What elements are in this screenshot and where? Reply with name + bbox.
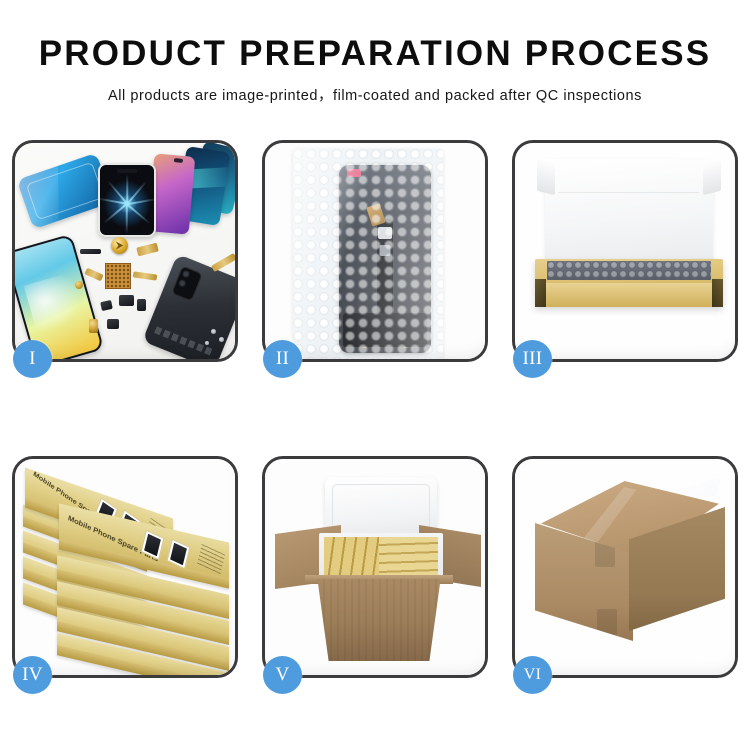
part-flex-cable bbox=[136, 243, 159, 257]
page-header: PRODUCT PREPARATION PROCESS All products… bbox=[0, 0, 750, 105]
lid-flap-left bbox=[537, 157, 555, 195]
page-subtitle: All products are image-printed，film-coat… bbox=[0, 84, 750, 105]
phone-back-housing bbox=[142, 254, 235, 359]
screen-ray bbox=[126, 204, 128, 234]
part-module bbox=[137, 299, 146, 311]
part-speaker-mesh bbox=[80, 249, 101, 254]
foam-rim bbox=[332, 484, 430, 534]
carton-front-wall bbox=[309, 579, 449, 661]
step-badge-4: IV bbox=[13, 656, 52, 694]
camera-lens bbox=[178, 279, 187, 288]
step-badge-5: V bbox=[263, 656, 302, 694]
part-chip-array bbox=[105, 263, 131, 289]
kraft-box-with-bubble-liner-image bbox=[515, 143, 735, 359]
carton-tab-lower bbox=[597, 609, 617, 635]
plastic-sheen bbox=[293, 149, 443, 359]
bubble-wrap-bag bbox=[293, 149, 443, 359]
step-badge-6: VI bbox=[513, 656, 552, 694]
process-step-grid: I II bbox=[12, 140, 738, 678]
box-window-screen bbox=[170, 543, 187, 565]
spare-parts-assortment-image bbox=[15, 143, 235, 359]
camera-lens bbox=[181, 269, 190, 278]
kraft-box-tray bbox=[535, 259, 723, 307]
part-flex-cable bbox=[211, 253, 235, 272]
sealed-shipping-carton-image bbox=[515, 459, 735, 675]
lid-crease bbox=[559, 192, 699, 193]
sealed-carton bbox=[535, 481, 725, 659]
tray-front-face bbox=[546, 283, 712, 307]
step-badge-2: II bbox=[263, 340, 302, 378]
process-step-panel-2[interactable]: II bbox=[262, 140, 488, 362]
carton-texture bbox=[309, 579, 449, 661]
part-module bbox=[100, 300, 113, 311]
part-screw bbox=[205, 341, 209, 345]
box-spec-lines bbox=[197, 544, 225, 575]
page-title: PRODUCT PREPARATION PROCESS bbox=[0, 36, 750, 73]
part-screw bbox=[211, 329, 216, 334]
process-step-panel-3[interactable]: III bbox=[512, 140, 738, 362]
camera-module bbox=[171, 266, 203, 302]
part-gold-button bbox=[75, 281, 83, 289]
process-step-panel-5[interactable]: V bbox=[262, 456, 488, 678]
part-module bbox=[107, 319, 119, 329]
screen-ray bbox=[126, 174, 128, 204]
step-badge-3: III bbox=[513, 340, 552, 378]
bubble-liner bbox=[547, 261, 711, 280]
lid-flap-right bbox=[703, 157, 721, 195]
process-step-panel-1[interactable]: I bbox=[12, 140, 238, 362]
process-step-panel-6[interactable]: VI bbox=[512, 456, 738, 678]
process-step-panel-4[interactable]: Mobile Phone Spare Parts Mobile Phone Sp… bbox=[12, 456, 238, 678]
bubble-wrapped-screen-image bbox=[265, 143, 485, 359]
tray-corner-right bbox=[712, 279, 723, 307]
gold-box-row-secondary bbox=[379, 537, 438, 578]
screen-notch bbox=[117, 169, 137, 173]
open-shipping-carton bbox=[275, 477, 481, 665]
carton-loaded-with-boxes-image bbox=[265, 459, 485, 675]
box-stack: Mobile Phone Spare Parts Mobile Phone Sp… bbox=[21, 471, 233, 669]
part-connector bbox=[89, 319, 98, 333]
part-screw bbox=[219, 337, 224, 342]
part-gold-disc bbox=[111, 237, 128, 254]
part-flex-cable bbox=[84, 268, 103, 282]
black-glass-screen bbox=[98, 163, 156, 237]
tray-corner-left bbox=[535, 279, 546, 307]
part-module bbox=[119, 295, 134, 306]
part-flex-cable bbox=[133, 271, 158, 280]
stacked-retail-boxes-image: Mobile Phone Spare Parts Mobile Phone Sp… bbox=[15, 459, 235, 675]
box-window-screen bbox=[144, 534, 161, 556]
step-badge-1: I bbox=[13, 340, 52, 378]
